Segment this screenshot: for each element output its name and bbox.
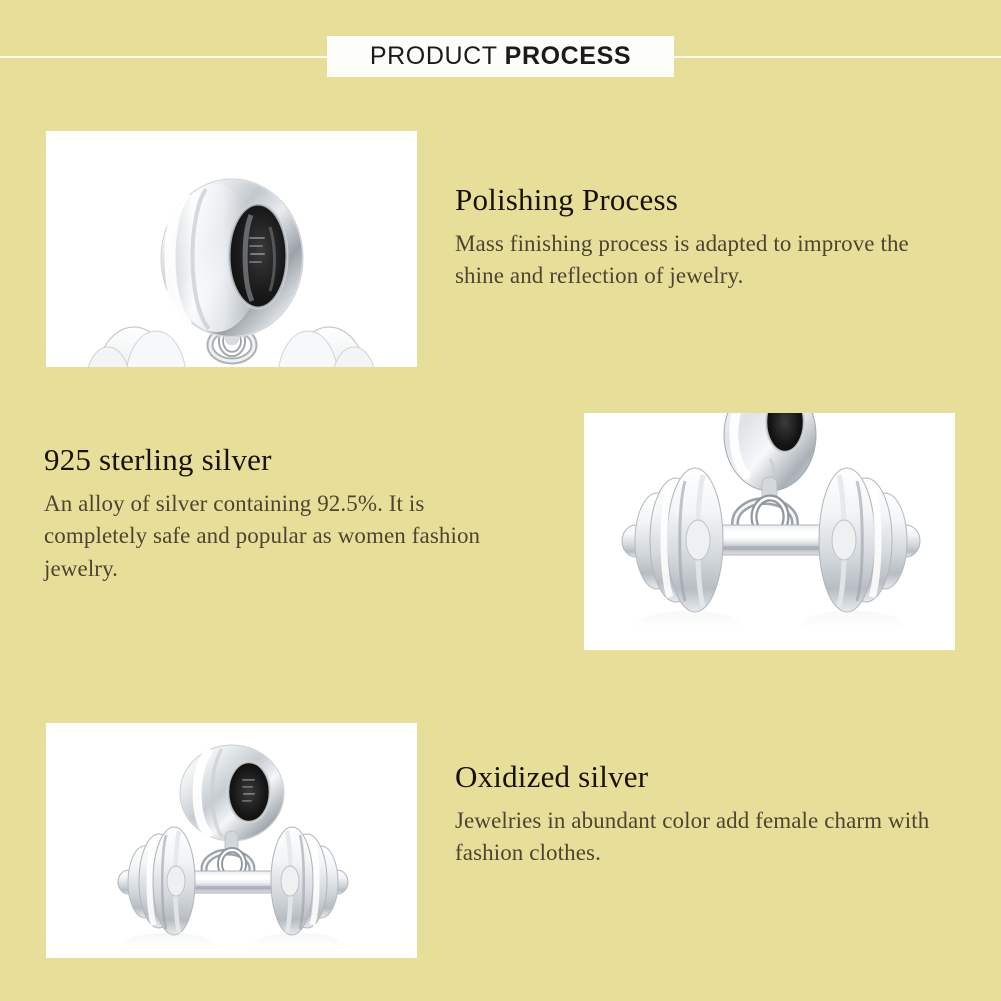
block-body-sterling: An alloy of silver containing 92.5%. It … — [44, 488, 514, 586]
block-body-oxidized: Jewelries in abundant color add female c… — [455, 805, 945, 870]
block-body-polishing: Mass finishing process is adapted to imp… — [455, 228, 925, 293]
photo-bead-closeup — [46, 131, 417, 367]
block-title-oxidized: Oxidized silver — [455, 760, 945, 795]
page-title: PRODUCTPROCESS — [370, 44, 631, 69]
page-title-bold: PROCESS — [505, 42, 631, 70]
header-banner: PRODUCTPROCESS — [327, 36, 674, 77]
block-title-polishing: Polishing Process — [455, 183, 925, 218]
infographic-page: PRODUCTPROCESS — [0, 0, 1001, 1001]
page-title-light: PRODUCT — [370, 42, 498, 70]
text-block-oxidized: Oxidized silver Jewelries in abundant co… — [455, 760, 945, 870]
full-charm-illustration — [46, 723, 417, 958]
text-block-sterling: 925 sterling silver An alloy of silver c… — [44, 443, 514, 586]
text-block-polishing: Polishing Process Mass finishing process… — [455, 183, 925, 293]
dumbbell-closeup-illustration — [584, 413, 955, 650]
block-title-sterling: 925 sterling silver — [44, 443, 514, 478]
silver-donut-bead — [180, 745, 284, 841]
photo-full-charm — [46, 723, 417, 958]
photo-dumbbell-closeup — [584, 413, 955, 650]
bead-closeup-illustration — [46, 131, 417, 367]
silver-donut-bead — [161, 179, 303, 337]
